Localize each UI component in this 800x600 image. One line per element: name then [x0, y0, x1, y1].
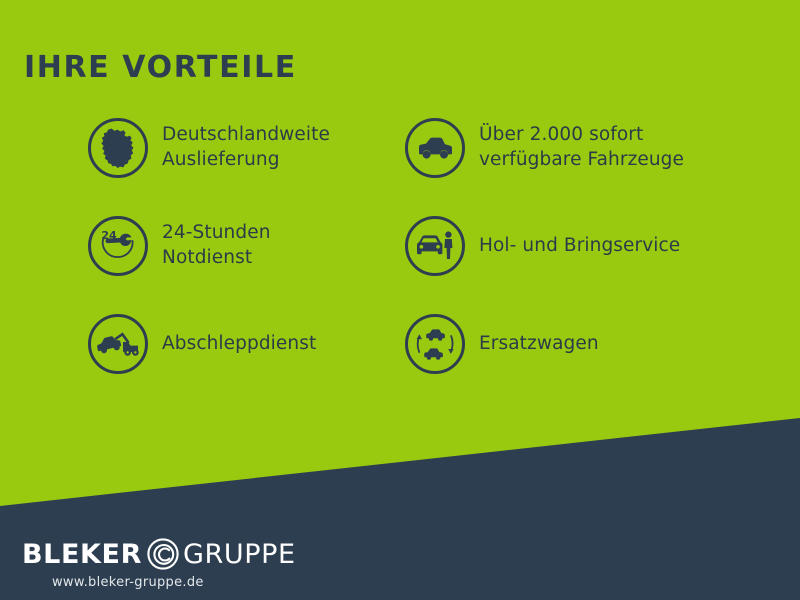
benefit-item-24-stunden-notdienst[interactable]: 24 24-Stunden Notdienst — [88, 216, 271, 276]
logo-secondary-text: GRUPPE — [183, 539, 296, 570]
tow-truck-icon — [88, 314, 148, 374]
benefit-item-deutschlandweite-auslieferung[interactable]: Deutschlandweite Auslieferung — [88, 118, 330, 178]
logo-primary-text: BLEKER — [22, 539, 142, 570]
benefit-label: Abschleppdienst — [162, 332, 316, 357]
benefits-grid: Deutschlandweite Auslieferung Über 2.000… — [0, 118, 800, 412]
benefit-label: Ersatzwagen — [479, 332, 599, 357]
benefit-row: 24 24-Stunden Notdienst — [0, 216, 800, 314]
benefit-label: 24-Stunden Notdienst — [162, 221, 271, 271]
car-side-icon — [405, 118, 465, 178]
benefit-item-abschleppdienst[interactable]: Abschleppdienst — [88, 314, 316, 374]
brand-logo[interactable]: BLEKER GRUPPE — [22, 536, 442, 572]
benefit-label: Hol- und Bringservice — [479, 234, 680, 259]
benefit-label: Deutschlandweite Auslieferung — [162, 123, 330, 173]
two-cars-exchange-icon — [405, 314, 465, 374]
24-hour-wrench-icon: 24 — [88, 216, 148, 276]
benefit-item-verfuegbare-fahrzeuge[interactable]: Über 2.000 sofort verfügbare Fahrzeuge — [405, 118, 684, 178]
benefit-item-hol-und-bringservice[interactable]: Hol- und Bringservice — [405, 216, 680, 276]
website-url[interactable]: www.bleker-gruppe.de — [52, 575, 442, 590]
spiral-circle-logo-icon — [146, 537, 180, 571]
footer: BLEKER GRUPPE www.bleker-gruppe.de — [22, 536, 442, 590]
page-title: IHRE VORTEILE — [24, 50, 297, 85]
germany-map-icon — [88, 118, 148, 178]
benefit-row: Deutschlandweite Auslieferung Über 2.000… — [0, 118, 800, 216]
benefit-item-ersatzwagen[interactable]: Ersatzwagen — [405, 314, 599, 374]
benefit-row: Abschleppdienst — [0, 314, 800, 412]
benefit-label: Über 2.000 sofort verfügbare Fahrzeuge — [479, 123, 684, 173]
car-with-person-icon — [405, 216, 465, 276]
slide-canvas: IHRE VORTEILE Deutschlandweite Ausliefer… — [0, 0, 800, 600]
